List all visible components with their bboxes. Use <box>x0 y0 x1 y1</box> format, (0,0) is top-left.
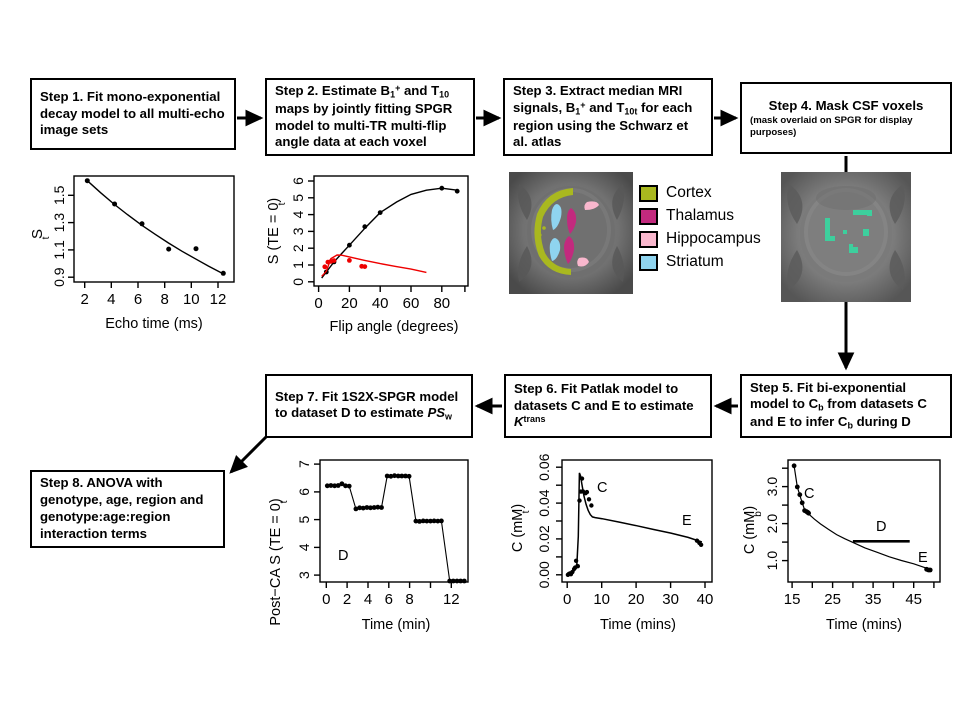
svg-text:Time (mins): Time (mins) <box>826 617 902 633</box>
chart-cb-biexponential: 1.0 2.0 3.0 15 25 35 45 <box>736 452 960 638</box>
atlas-legend-item-thalamus: Thalamus <box>639 207 734 225</box>
svg-text:12: 12 <box>443 591 460 608</box>
svg-text:45: 45 <box>905 591 922 608</box>
svg-text:1.0: 1.0 <box>764 551 780 571</box>
svg-text:0: 0 <box>563 591 571 608</box>
svg-text:t: t <box>41 236 52 239</box>
csf-mask-brain-image <box>781 172 911 302</box>
svg-text:D: D <box>338 548 348 564</box>
svg-text:t: t <box>277 202 288 205</box>
legend-swatch-striatum <box>639 254 658 271</box>
svg-text:4: 4 <box>107 291 115 308</box>
svg-text:4: 4 <box>290 210 306 218</box>
svg-text:0.00: 0.00 <box>536 561 552 588</box>
svg-text:Post−CA S (TE = 0): Post−CA S (TE = 0) <box>268 498 284 625</box>
svg-text:60: 60 <box>403 295 420 312</box>
svg-text:0.06: 0.06 <box>536 453 552 480</box>
svg-text:S (TE = 0): S (TE = 0) <box>266 198 282 264</box>
svg-text:40: 40 <box>372 295 389 312</box>
svg-text:8: 8 <box>161 291 169 308</box>
svg-text:25: 25 <box>824 591 841 608</box>
svg-text:Echo time (ms): Echo time (ms) <box>105 316 203 332</box>
atlas-legend-item-cortex: Cortex <box>639 184 712 202</box>
svg-text:Flip angle (degrees): Flip angle (degrees) <box>330 319 459 335</box>
svg-text:0: 0 <box>290 278 306 286</box>
svg-text:t: t <box>279 500 290 503</box>
svg-text:t: t <box>521 510 532 513</box>
svg-text:20: 20 <box>628 591 645 608</box>
chart-t2-decay: 0.9 1.1 1.3 1.5 2 4 6 8 10 12 <box>22 168 250 340</box>
svg-text:8: 8 <box>405 591 413 608</box>
legend-swatch-thalamus <box>639 208 658 225</box>
svg-text:C: C <box>597 480 607 496</box>
svg-text:80: 80 <box>433 295 450 312</box>
svg-text:E: E <box>682 513 692 529</box>
svg-text:Time (min): Time (min) <box>362 617 431 633</box>
svg-text:35: 35 <box>865 591 882 608</box>
atlas-legend-item-striatum: Striatum <box>639 253 724 271</box>
svg-text:C: C <box>804 486 814 502</box>
svg-text:6: 6 <box>134 291 142 308</box>
chart-postca-signal: 3 4 5 6 7 0 2 4 6 8 12 <box>258 452 490 638</box>
svg-text:1.1: 1.1 <box>51 240 67 260</box>
svg-text:20: 20 <box>341 295 358 312</box>
svg-text:10: 10 <box>183 291 200 308</box>
svg-text:3.0: 3.0 <box>764 477 780 497</box>
chart-ct-patlak: 0.00 0.02 0.04 0.06 0 10 20 30 40 <box>498 452 734 638</box>
chart-spgr-flip-angle: 0 1 2 3 4 5 6 0 20 40 60 <box>258 168 490 340</box>
svg-text:0.04: 0.04 <box>536 489 552 516</box>
svg-text:D: D <box>876 519 886 535</box>
svg-text:1.3: 1.3 <box>51 213 67 233</box>
svg-text:4: 4 <box>296 543 312 551</box>
svg-text:6: 6 <box>385 591 393 608</box>
svg-text:3: 3 <box>296 571 312 579</box>
svg-text:30: 30 <box>662 591 679 608</box>
svg-text:7: 7 <box>296 460 312 468</box>
svg-text:4: 4 <box>364 591 372 608</box>
svg-text:0.02: 0.02 <box>536 525 552 552</box>
svg-text:0.9: 0.9 <box>51 267 67 287</box>
svg-text:12: 12 <box>210 291 227 308</box>
svg-text:6: 6 <box>296 488 312 496</box>
svg-text:E: E <box>918 550 928 566</box>
svg-text:2: 2 <box>81 291 89 308</box>
svg-text:2.0: 2.0 <box>764 514 780 534</box>
svg-text:Time (mins): Time (mins) <box>600 617 676 633</box>
svg-text:5: 5 <box>290 194 306 202</box>
svg-text:b: b <box>753 511 764 517</box>
svg-text:0: 0 <box>314 295 322 312</box>
atlas-brain-image <box>509 172 633 294</box>
legend-label-hippocampus: Hippocampus <box>666 230 761 248</box>
legend-label-striatum: Striatum <box>666 253 724 271</box>
svg-text:15: 15 <box>784 591 801 608</box>
svg-text:2: 2 <box>290 244 306 252</box>
svg-text:0: 0 <box>322 591 330 608</box>
legend-swatch-cortex <box>639 185 658 202</box>
svg-text:3: 3 <box>290 227 306 235</box>
svg-text:1.5: 1.5 <box>51 185 67 205</box>
svg-text:2: 2 <box>343 591 351 608</box>
svg-text:6: 6 <box>290 177 306 185</box>
svg-text:40: 40 <box>697 591 714 608</box>
svg-text:5: 5 <box>296 515 312 523</box>
atlas-legend-item-hippocampus: Hippocampus <box>639 230 761 248</box>
legend-swatch-hippocampus <box>639 231 658 248</box>
figure-canvas: Step 1. Fit mono-exponential decay model… <box>0 0 960 720</box>
legend-label-thalamus: Thalamus <box>666 207 734 225</box>
legend-label-cortex: Cortex <box>666 184 712 202</box>
svg-text:1: 1 <box>290 261 306 269</box>
svg-text:10: 10 <box>593 591 610 608</box>
